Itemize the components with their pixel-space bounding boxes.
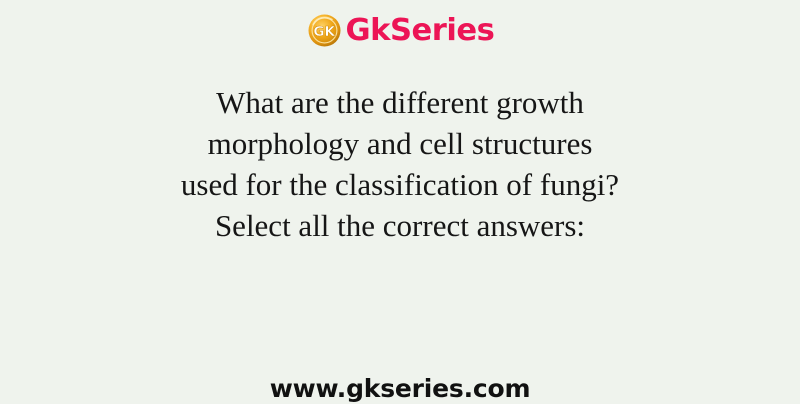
question-line-2: morphology and cell structures — [0, 123, 800, 164]
question-line-1: What are the different growth — [0, 82, 800, 123]
brand-header[interactable]: GK GkSeries — [0, 14, 800, 47]
question-text-block: What are the different growth morphology… — [0, 82, 800, 246]
brand-wordmark: GkSeries — [345, 16, 494, 46]
gkseries-coin-logo-icon: GK — [308, 14, 341, 47]
slide-page: GK GkSeries What are the different growt… — [0, 0, 800, 400]
question-line-3: used for the classification of fungi? — [0, 164, 800, 205]
svg-text:GK: GK — [313, 24, 335, 40]
question-line-4: Select all the correct answers: — [0, 205, 800, 246]
